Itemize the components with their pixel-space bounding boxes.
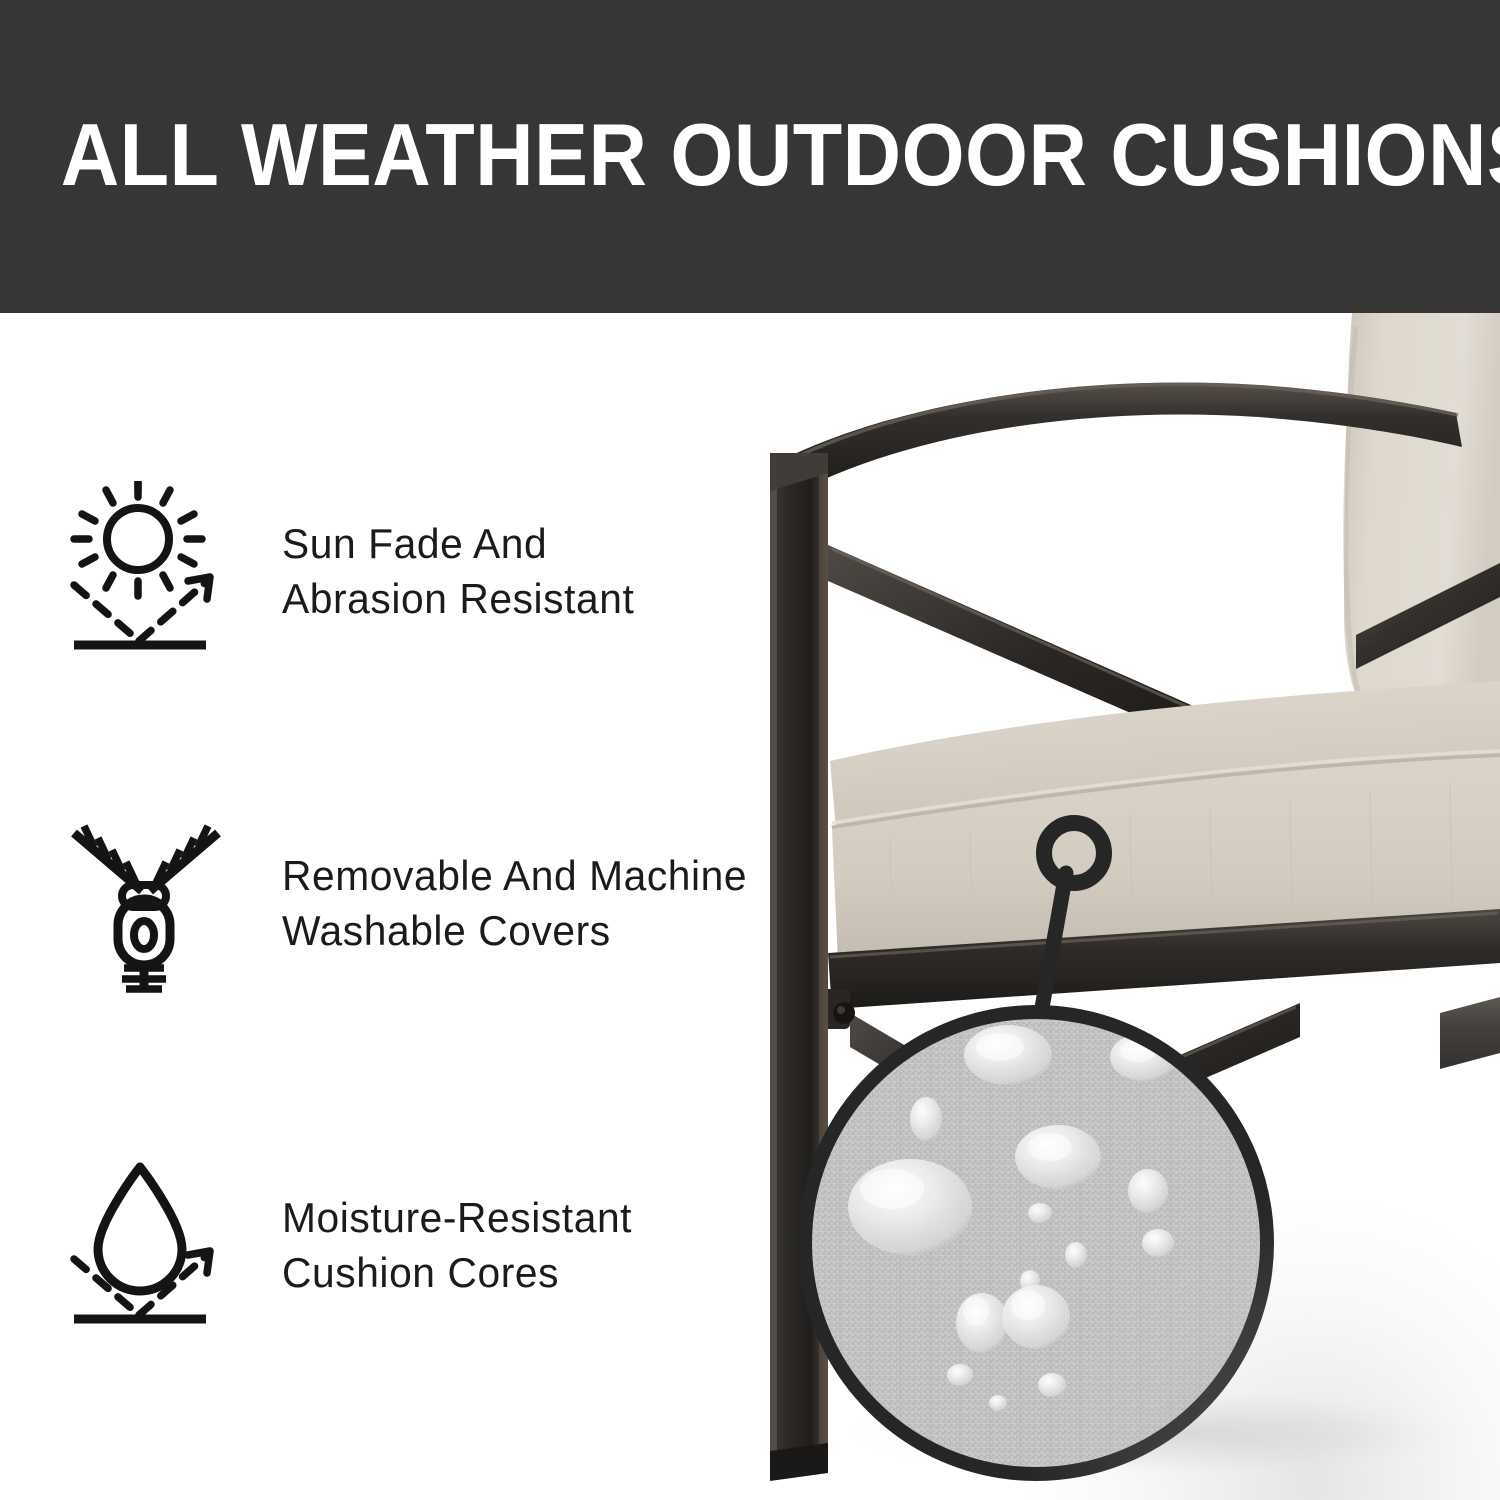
sun-fade-resistant-icon: [60, 481, 240, 661]
feature-item-sun-fade: Sun Fade And Abrasion Resistant: [60, 481, 760, 661]
feature-label-sun-fade: Sun Fade And Abrasion Resistant: [282, 516, 634, 627]
feature-label-line1: Sun Fade And: [282, 516, 634, 571]
feature-list: Sun Fade And Abrasion Resistant: [0, 313, 760, 1500]
feature-label-line1: Moisture-Resistant: [282, 1190, 632, 1245]
feature-label-line1: Removable And Machine: [282, 848, 747, 903]
feature-label-line2: Abrasion Resistant: [282, 571, 634, 626]
feature-label-line2: Cushion Cores: [282, 1245, 632, 1300]
page-title: ALL WEATHER OUTDOOR CUSHIONS: [0, 111, 1500, 199]
header-banner: ALL WEATHER OUTDOOR CUSHIONS: [0, 0, 1500, 313]
water-droplet-repellent-icon: [60, 1155, 240, 1335]
feature-label-washable-covers: Removable And Machine Washable Covers: [282, 848, 747, 959]
zipper-icon: [60, 813, 240, 993]
feature-item-washable-covers: Removable And Machine Washable Covers: [60, 813, 760, 993]
product-photo-outdoor-chair: [740, 313, 1500, 1500]
feature-item-moisture-resistant: Moisture-Resistant Cushion Cores: [60, 1155, 760, 1335]
content-area: Sun Fade And Abrasion Resistant: [0, 313, 1500, 1500]
feature-label-moisture-resistant: Moisture-Resistant Cushion Cores: [282, 1190, 632, 1301]
feature-label-line2: Washable Covers: [282, 903, 747, 958]
